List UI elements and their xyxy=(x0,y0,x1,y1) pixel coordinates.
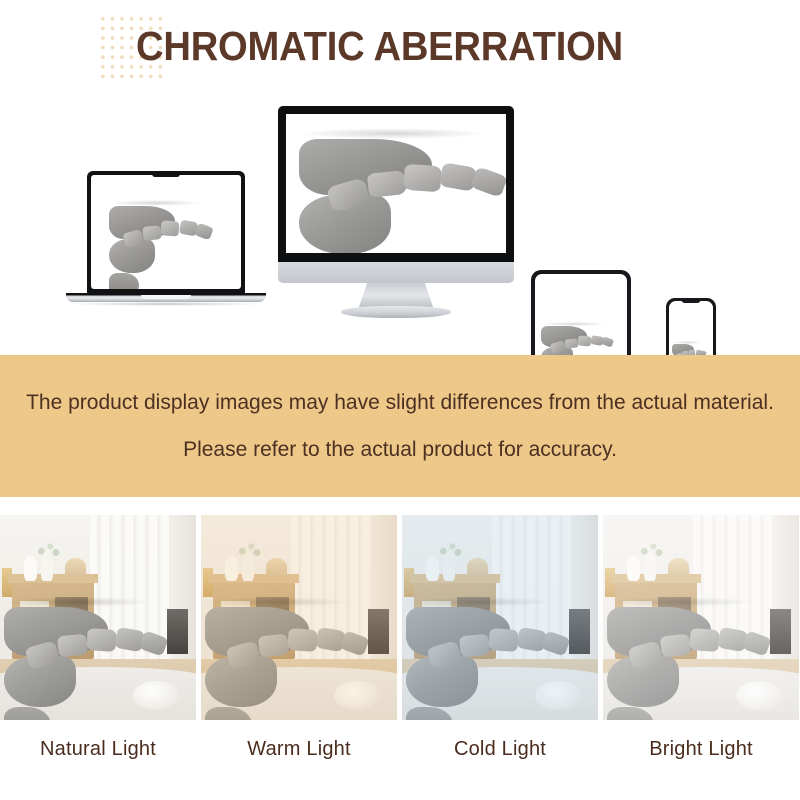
sofa-pillow-2 xyxy=(564,338,578,348)
sofa-pillow-3 xyxy=(287,628,317,652)
sofa-pillow-5 xyxy=(470,166,506,198)
sofa-pillow-4 xyxy=(439,162,477,192)
lighting-comparison-strip: Natural Light xyxy=(0,515,800,800)
sofa-pillow-3 xyxy=(577,335,591,345)
room-photo-warm xyxy=(201,515,397,720)
sofa-pillow-5 xyxy=(601,336,614,348)
sofa-shadow xyxy=(299,128,487,139)
vase-a xyxy=(627,556,641,581)
sofa-shadow xyxy=(205,597,353,607)
disclaimer-line-2: Please refer to the actual product for a… xyxy=(183,435,617,465)
room-photo-cold xyxy=(402,515,598,720)
vase-b xyxy=(644,552,656,581)
sofa-pillow-2 xyxy=(142,225,162,241)
round-pouf xyxy=(535,681,582,710)
sofa-product-image-laptop xyxy=(109,200,223,271)
sofa-pillow-3 xyxy=(689,628,719,652)
table-lamp xyxy=(266,558,288,576)
page-title: CHROMATIC ABERRATION xyxy=(136,21,623,71)
device-mockup-row xyxy=(0,98,800,346)
sofa-shadow xyxy=(4,597,152,607)
lighting-label-natural: Natural Light xyxy=(0,720,196,761)
disclaimer-line-1: The product display images may have slig… xyxy=(26,388,774,418)
table-lamp xyxy=(668,558,690,576)
laptop-screen xyxy=(91,175,241,289)
round-pouf xyxy=(736,681,783,710)
page-header: CHROMATIC ABERRATION xyxy=(0,0,800,98)
monitor-bezel xyxy=(278,106,514,262)
vase-a xyxy=(24,556,38,581)
sofa-pillow-2 xyxy=(57,634,88,658)
laptop-shadow xyxy=(70,302,262,306)
monitor-mockup xyxy=(278,106,514,321)
lighting-label-warm: Warm Light xyxy=(201,720,397,761)
lighting-label-bright: Bright Light xyxy=(603,720,799,761)
sofa-pillow-3 xyxy=(161,221,180,237)
room-scene xyxy=(0,515,196,720)
laptop-mockup xyxy=(66,171,266,308)
sofa-pillow-5 xyxy=(741,631,771,658)
monitor-chin xyxy=(278,262,514,283)
sofa-pillow-2 xyxy=(367,170,406,198)
room-scene xyxy=(201,515,397,720)
wall-art xyxy=(605,568,615,597)
table-lamp xyxy=(467,558,489,576)
phone-notch xyxy=(681,298,701,303)
room-photo-natural xyxy=(0,515,196,720)
vase-a xyxy=(225,556,239,581)
sofa-pillow-4 xyxy=(315,627,345,653)
sofa-pillow-3 xyxy=(488,628,518,652)
laptop-lid xyxy=(87,171,245,295)
wall-art xyxy=(2,568,12,597)
sofa-pillow-2 xyxy=(258,634,289,658)
sofa-pillow-2 xyxy=(459,634,490,658)
room-photo-bright xyxy=(603,515,799,720)
lighting-label-cold: Cold Light xyxy=(402,720,598,761)
vase-b xyxy=(443,552,455,581)
wall-art xyxy=(404,568,414,597)
table-lamp xyxy=(65,558,87,576)
sofa-pillow-4 xyxy=(114,627,144,653)
lighting-panel-natural: Natural Light xyxy=(0,515,196,800)
round-pouf xyxy=(133,681,180,710)
disclaimer-banner: The product display images may have slig… xyxy=(0,355,800,497)
vase-b xyxy=(41,552,53,581)
vase-a xyxy=(426,556,440,581)
monitor-screen xyxy=(286,114,506,253)
sofa-pillow-4 xyxy=(717,627,747,653)
lighting-panel-cold: Cold Light xyxy=(402,515,598,800)
lighting-panel-bright: Bright Light xyxy=(603,515,799,800)
vase-b xyxy=(242,552,254,581)
sofa-pillow-5 xyxy=(194,222,213,239)
room-scene xyxy=(603,515,799,720)
round-pouf xyxy=(334,681,381,710)
laptop-camera-notch xyxy=(152,171,180,177)
sofa-pillow-3 xyxy=(404,163,442,191)
wall-art xyxy=(203,568,213,597)
sofa-pillow-5 xyxy=(339,631,369,658)
sofa-product-image-monitor xyxy=(299,128,506,250)
lighting-panel-warm: Warm Light xyxy=(201,515,397,800)
sofa-shadow xyxy=(607,597,755,607)
room-scene xyxy=(402,515,598,720)
sofa-pillow-2 xyxy=(660,634,691,658)
sofa-pillow-4 xyxy=(516,627,546,653)
sofa-pillow-3 xyxy=(86,628,116,652)
sofa-pillow-5 xyxy=(138,631,168,658)
laptop-trackpad-notch xyxy=(141,295,191,299)
sofa-shadow xyxy=(406,597,554,607)
sofa-chaise-end xyxy=(109,273,139,289)
sofa-pillow-5 xyxy=(540,631,570,658)
monitor-stand-base xyxy=(341,306,451,318)
